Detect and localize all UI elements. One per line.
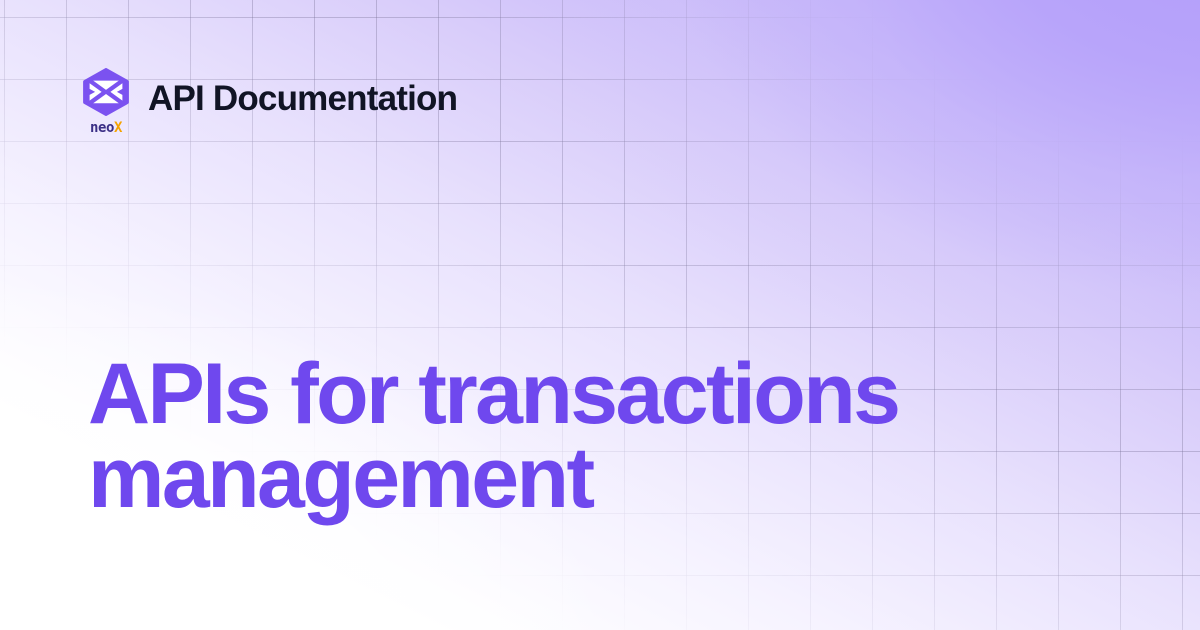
neox-logo: neoX [80, 68, 132, 134]
brand-lockup: neoX API Documentation [80, 68, 457, 134]
hero-headline-line-1: APIs for transactions [88, 352, 1088, 436]
wordmark-neo: neo [90, 120, 114, 136]
hero-headline: APIs for transactions management [88, 352, 1088, 521]
neox-hexagon-logo-icon [80, 68, 132, 116]
wordmark-x: X [114, 120, 122, 136]
header-title: API Documentation [148, 81, 457, 116]
og-card: neoX API Documentation APIs for transact… [0, 0, 1200, 630]
card-content: neoX API Documentation APIs for transact… [0, 0, 1200, 630]
hero-headline-line-2: management [88, 436, 1088, 520]
neox-wordmark: neoX [80, 121, 132, 135]
